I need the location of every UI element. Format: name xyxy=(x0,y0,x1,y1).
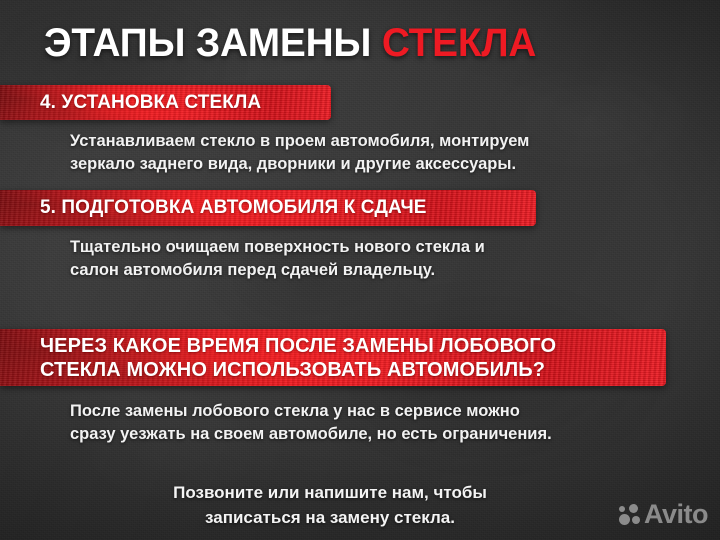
faq-question-banner: ЧЕРЕЗ КАКОЕ ВРЕМЯ ПОСЛЕ ЗАМЕНЫ ЛОБОВОГО … xyxy=(0,329,666,386)
faq-answer-text: После замены лобового стекла у нас в сер… xyxy=(70,400,552,446)
step-banner-4-label: 4. УСТАНОВКА СТЕКЛА xyxy=(40,92,261,114)
avito-watermark: Avito xyxy=(619,501,708,528)
page-title-accent: СТЕКЛА xyxy=(382,21,536,65)
page-title: ЭТАПЫ ЗАМЕНЫ СТЕКЛА xyxy=(44,21,536,65)
call-to-action-text: Позвоните или напишите нам, чтобы записа… xyxy=(0,480,660,530)
step-banner-5-label: 5. ПОДГОТОВКА АВТОМОБИЛЯ К СДАЧЕ xyxy=(40,197,427,219)
poster-content: ЭТАПЫ ЗАМЕНЫ СТЕКЛА 4. УСТАНОВКА СТЕКЛА … xyxy=(0,0,720,540)
faq-question-label: ЧЕРЕЗ КАКОЕ ВРЕМЯ ПОСЛЕ ЗАМЕНЫ ЛОБОВОГО … xyxy=(40,334,556,382)
step-text-5: Тщательно очищаем поверхность нового сте… xyxy=(70,236,485,282)
avito-wordmark: Avito xyxy=(644,501,708,528)
avito-logo-icon xyxy=(619,504,640,525)
page-title-main: ЭТАПЫ ЗАМЕНЫ xyxy=(44,21,382,65)
poster-canvas: ЭТАПЫ ЗАМЕНЫ СТЕКЛА 4. УСТАНОВКА СТЕКЛА … xyxy=(0,0,720,540)
step-banner-5: 5. ПОДГОТОВКА АВТОМОБИЛЯ К СДАЧЕ xyxy=(0,190,536,226)
step-banner-4: 4. УСТАНОВКА СТЕКЛА xyxy=(0,85,331,120)
step-text-4: Устанавливаем стекло в проем автомобиля,… xyxy=(70,130,529,176)
